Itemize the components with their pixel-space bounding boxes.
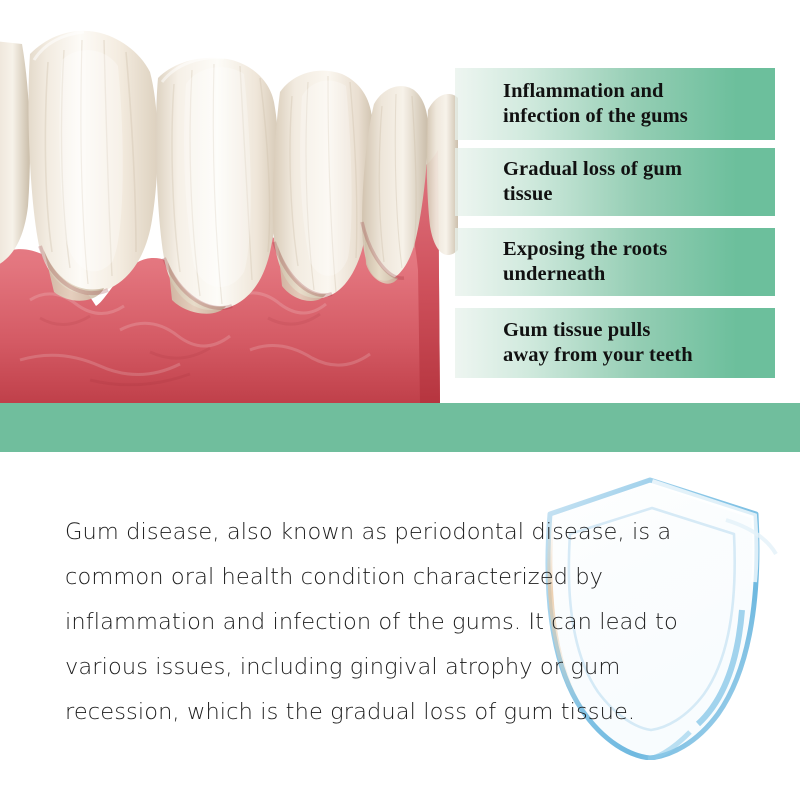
description-paragraph: Gum disease, also known as periodontal d… bbox=[65, 510, 755, 735]
tooth-5 bbox=[427, 94, 458, 255]
infographic-page: Inflammation and infection of the gums G… bbox=[0, 0, 800, 800]
callout-band-2[interactable]: Gradual loss of gum tissue bbox=[455, 148, 775, 216]
callout-label-4: Gum tissue pulls away from your teeth bbox=[503, 318, 765, 368]
green-footer-bar bbox=[0, 403, 800, 452]
callout-label-1: Inflammation and infection of the gums bbox=[503, 79, 765, 129]
description-region: Gum disease, also known as periodontal d… bbox=[0, 455, 800, 800]
callout-band-3[interactable]: Exposing the roots underneath bbox=[455, 228, 775, 296]
teeth-and-gums-illustration bbox=[0, 0, 460, 410]
callout-label-3: Exposing the roots underneath bbox=[503, 237, 765, 287]
callout-label-2: Gradual loss of gum tissue bbox=[503, 157, 765, 207]
callout-band-4[interactable]: Gum tissue pulls away from your teeth bbox=[455, 308, 775, 378]
callout-band-1[interactable]: Inflammation and infection of the gums bbox=[455, 68, 775, 140]
callout-band-list: Inflammation and infection of the gums G… bbox=[455, 0, 800, 400]
dental-illustration-region: Inflammation and infection of the gums G… bbox=[0, 0, 800, 455]
